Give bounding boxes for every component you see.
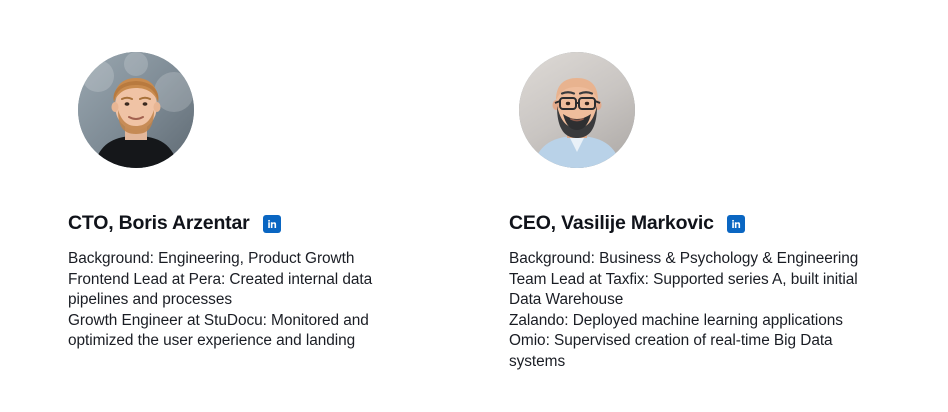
profile-name-row-ceo: CEO, Vasilije Markovic <box>509 212 929 235</box>
avatar <box>519 52 635 168</box>
bio-line: Frontend Lead at Pera: Created internal … <box>68 270 413 311</box>
bio-line: Background: Engineering, Product Growth <box>68 249 413 270</box>
linkedin-icon[interactable] <box>727 215 745 233</box>
profile-card-ceo: CEO, Vasilije Markovic Background: Busin… <box>509 0 929 373</box>
bio-line: Background: Business & Psychology & Engi… <box>509 249 859 270</box>
profile-bio-cto: Background: Engineering, Product Growth … <box>68 249 413 352</box>
linkedin-icon[interactable] <box>263 215 281 233</box>
bio-line: Growth Engineer at StuDocu: Monitored an… <box>68 311 413 352</box>
bio-line: Omio: Supervised creation of real-time B… <box>509 331 859 372</box>
profile-name-row-cto: CTO, Boris Arzentar <box>68 212 488 235</box>
avatar <box>78 52 194 168</box>
profile-name: CTO, Boris Arzentar <box>68 212 250 235</box>
profile-card-cto: CTO, Boris Arzentar Background: Engineer… <box>68 0 488 352</box>
profile-bio-ceo: Background: Business & Psychology & Engi… <box>509 249 859 373</box>
bio-line: Team Lead at Taxfix: Supported series A,… <box>509 270 859 311</box>
bio-line: Zalando: Deployed machine learning appli… <box>509 311 859 332</box>
profile-name: CEO, Vasilije Markovic <box>509 212 714 235</box>
team-profiles-section: CTO, Boris Arzentar Background: Engineer… <box>0 0 948 412</box>
